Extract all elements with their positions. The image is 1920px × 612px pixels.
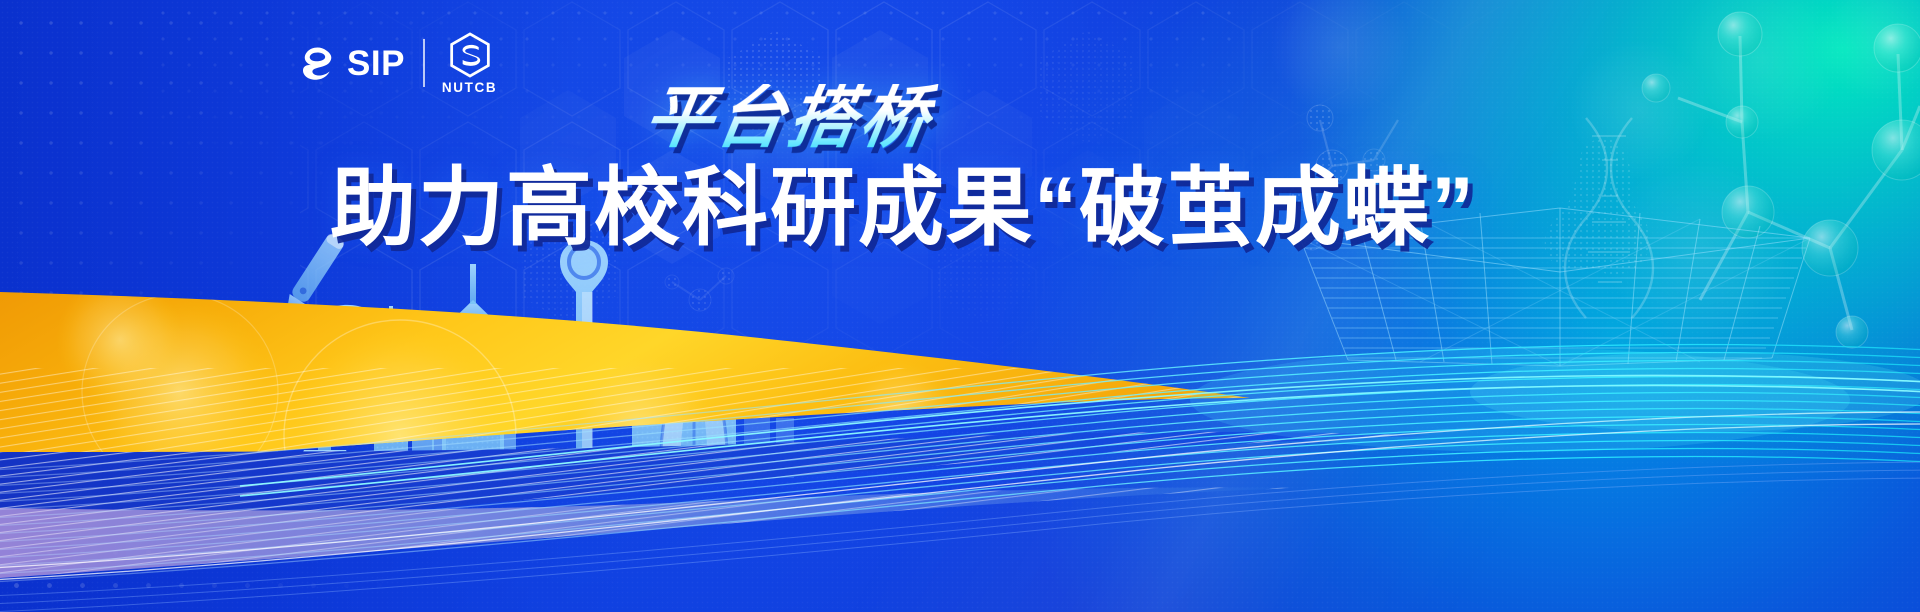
promo-banner: SIP NUTCB 平台搭桥 助力高校科研成果“破茧成蝶” [0, 0, 1920, 612]
logo-lockup[interactable]: SIP NUTCB [296, 33, 526, 93]
sip-swirl-logo-icon [296, 42, 338, 84]
headline-main: 助力高校科研成果“破茧成蝶” [330, 165, 1476, 251]
sip-wordmark: SIP [347, 46, 405, 81]
nutcb-hexagon-logo-icon [448, 32, 492, 78]
headline-group: 平台搭桥 助力高校科研成果“破茧成蝶” [0, 0, 1920, 612]
nutcb-wordmark: NUTCB [442, 81, 497, 95]
logo-divider [423, 39, 425, 87]
headline-eyebrow: 平台搭桥 [640, 84, 939, 152]
nutcb-logo[interactable]: NUTCB [442, 32, 497, 95]
sip-logo[interactable]: SIP [296, 42, 405, 84]
